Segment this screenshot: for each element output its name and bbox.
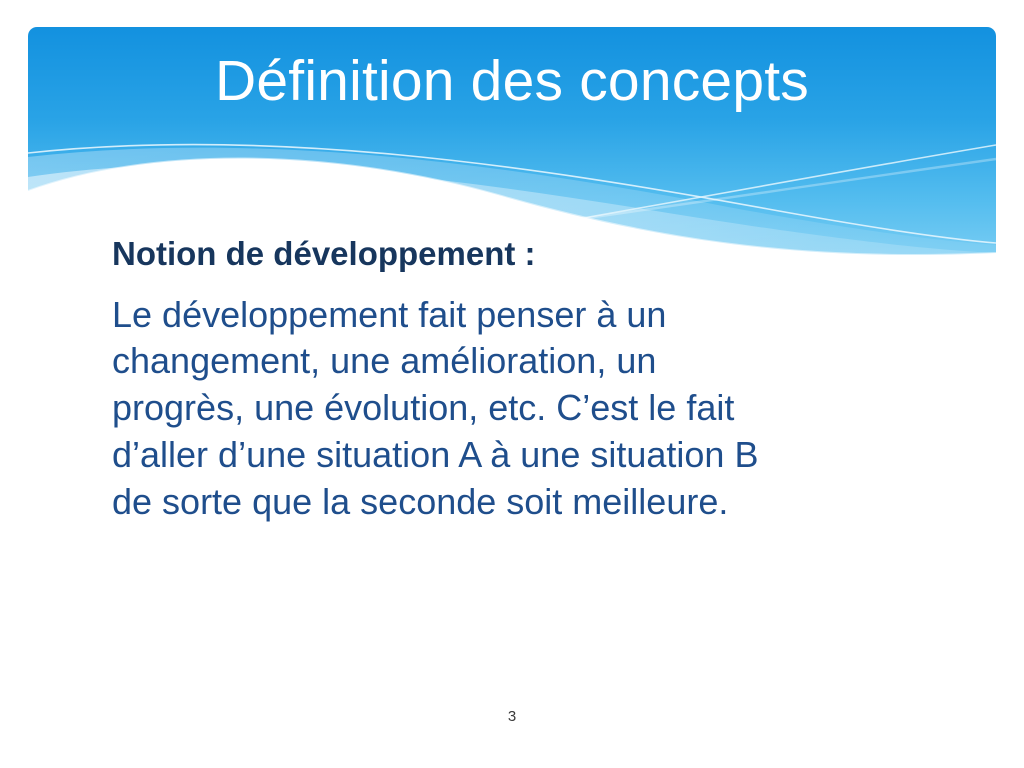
slide-page-number: 3 <box>0 708 1024 725</box>
page-title: Définition des concepts <box>28 52 996 112</box>
body-paragraph-line: d’aller d’une situation A à une situatio… <box>112 432 942 479</box>
body-paragraph-line: Le développement fait penser à un <box>112 292 942 339</box>
body-heading: Notion de développement : <box>112 232 942 276</box>
body-paragraph-line: progrès, une évolution, etc. C’est le fa… <box>112 385 942 432</box>
body-paragraph-line: de sorte que la seconde soit meilleure. <box>112 479 942 526</box>
slide-body-content: Notion de développement : Le développeme… <box>112 232 942 526</box>
presentation-slide: Définition des concepts Notion de dévelo… <box>0 0 1024 768</box>
body-paragraph-line: changement, une amélioration, un <box>112 338 942 385</box>
body-paragraph: Le développement fait penser à un change… <box>112 292 942 526</box>
